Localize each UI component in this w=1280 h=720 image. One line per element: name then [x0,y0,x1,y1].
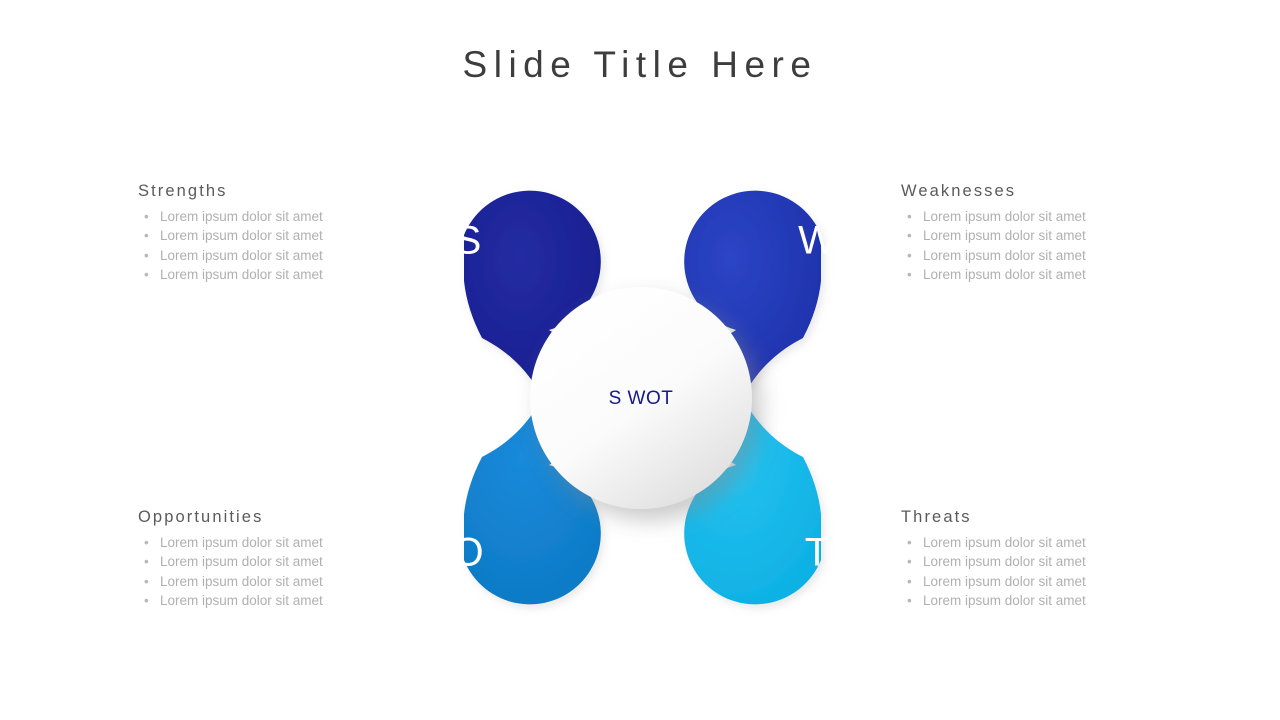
list-item-label: Lorem ipsum dolor sit amet [923,267,1086,282]
center-label: S WOT [609,388,674,409]
heading-threats: Threats [901,508,1151,527]
heading-strengths: Strengths [138,182,388,201]
list-item-label: Lorem ipsum dolor sit amet [160,554,323,569]
list-item: • Lorem ipsum dolor sit amet [901,552,1151,571]
heading-weaknesses: Weaknesses [901,182,1151,201]
bullet-dot-icon: • [144,265,149,284]
list-item-label: Lorem ipsum dolor sit amet [923,554,1086,569]
bullet-list-weaknesses: • Lorem ipsum dolor sit amet • Lorem ips… [901,207,1151,284]
block-threats: Threats • Lorem ipsum dolor sit amet • L… [901,508,1151,610]
list-item: • Lorem ipsum dolor sit amet [138,552,388,571]
heading-opportunities: Opportunities [138,508,388,527]
list-item: • Lorem ipsum dolor sit amet [901,533,1151,552]
bullet-list-threats: • Lorem ipsum dolor sit amet • Lorem ips… [901,533,1151,610]
bullet-list-strengths: • Lorem ipsum dolor sit amet • Lorem ips… [138,207,388,284]
bullet-dot-icon: • [144,572,149,591]
list-item: • Lorem ipsum dolor sit amet [901,572,1151,591]
bullet-dot-icon: • [907,572,912,591]
slide-canvas: Slide Title Here [0,0,1280,720]
bullet-dot-icon: • [144,226,149,245]
list-item-label: Lorem ipsum dolor sit amet [923,228,1086,243]
list-item-label: Lorem ipsum dolor sit amet [160,267,323,282]
list-item-label: Lorem ipsum dolor sit amet [923,593,1086,608]
list-item: • Lorem ipsum dolor sit amet [901,265,1151,284]
bullet-dot-icon: • [144,207,149,226]
bullet-dot-icon: • [907,591,912,610]
bullet-dot-icon: • [907,207,912,226]
block-opportunities: Opportunities • Lorem ipsum dolor sit am… [138,508,388,610]
list-item-label: Lorem ipsum dolor sit amet [160,248,323,263]
list-item: • Lorem ipsum dolor sit amet [138,533,388,552]
petal-weaknesses-letter: W [798,219,836,263]
list-item: • Lorem ipsum dolor sit amet [901,591,1151,610]
center-node[interactable]: S WOT [530,287,752,509]
list-item: • Lorem ipsum dolor sit amet [138,265,388,284]
list-item: • Lorem ipsum dolor sit amet [901,226,1151,245]
list-item: • Lorem ipsum dolor sit amet [138,572,388,591]
list-item: • Lorem ipsum dolor sit amet [138,246,388,265]
list-item-label: Lorem ipsum dolor sit amet [923,209,1086,224]
bullet-list-opportunities: • Lorem ipsum dolor sit amet • Lorem ips… [138,533,388,610]
list-item: • Lorem ipsum dolor sit amet [901,246,1151,265]
list-item: • Lorem ipsum dolor sit amet [138,591,388,610]
bullet-dot-icon: • [144,591,149,610]
list-item-label: Lorem ipsum dolor sit amet [160,209,323,224]
list-item: • Lorem ipsum dolor sit amet [138,207,388,226]
list-item-label: Lorem ipsum dolor sit amet [923,574,1086,589]
bullet-dot-icon: • [144,246,149,265]
bullet-dot-icon: • [144,552,149,571]
bullet-dot-icon: • [907,246,912,265]
petal-threats-letter: T [805,531,829,575]
bullet-dot-icon: • [907,265,912,284]
block-weaknesses: Weaknesses • Lorem ipsum dolor sit amet … [901,182,1151,284]
list-item-label: Lorem ipsum dolor sit amet [923,248,1086,263]
list-item: • Lorem ipsum dolor sit amet [138,226,388,245]
petal-opportunities-letter: O [452,531,483,575]
list-item-label: Lorem ipsum dolor sit amet [923,535,1086,550]
bullet-dot-icon: • [907,533,912,552]
list-item-label: Lorem ipsum dolor sit amet [160,535,323,550]
page-title: Slide Title Here [0,44,1280,86]
bullet-dot-icon: • [144,533,149,552]
list-item-label: Lorem ipsum dolor sit amet [160,593,323,608]
bullet-dot-icon: • [907,226,912,245]
list-item: • Lorem ipsum dolor sit amet [901,207,1151,226]
list-item-label: Lorem ipsum dolor sit amet [160,574,323,589]
block-strengths: Strengths • Lorem ipsum dolor sit amet •… [138,182,388,284]
bullet-dot-icon: • [907,552,912,571]
petal-strengths-letter: S [455,219,482,263]
list-item-label: Lorem ipsum dolor sit amet [160,228,323,243]
swot-diagram: S W O T S WOT [370,140,915,655]
